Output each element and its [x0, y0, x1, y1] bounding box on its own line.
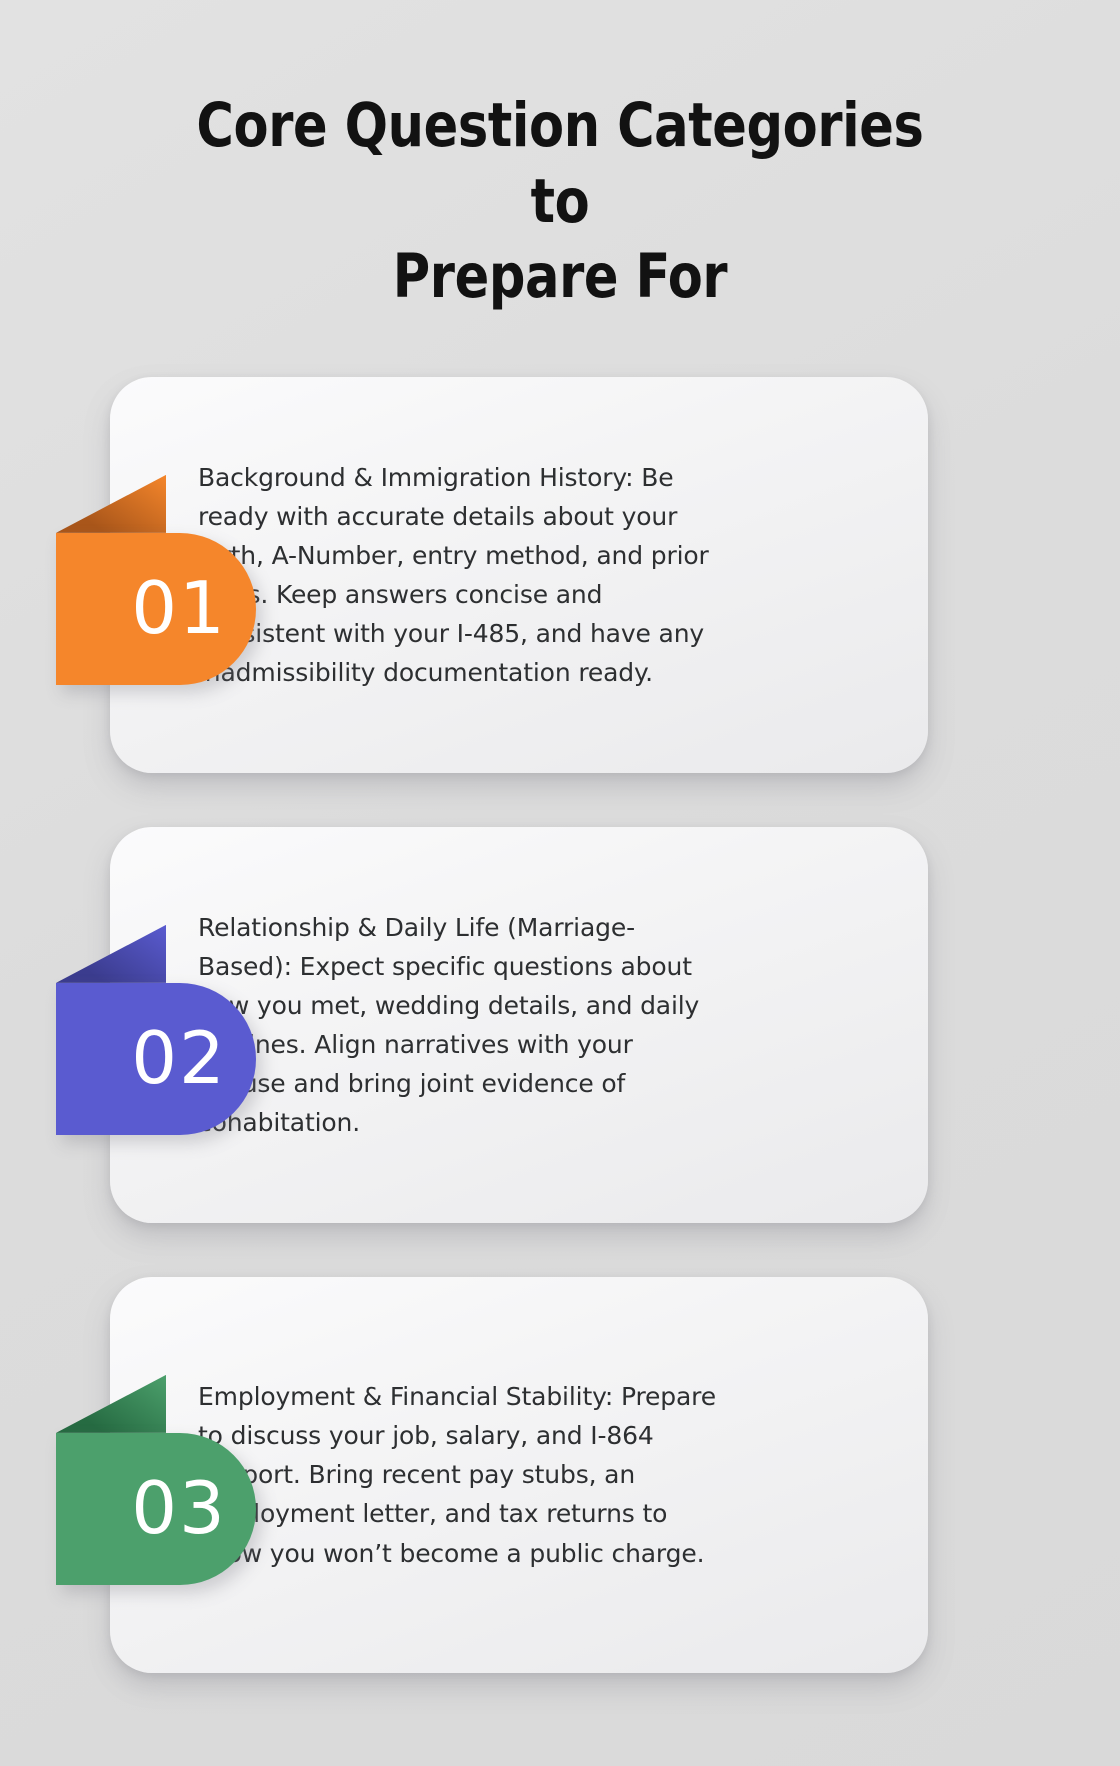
list-item: Relationship & Daily Life (Marriage-Base… — [0, 827, 1120, 1223]
step-badge-body: 02 — [56, 983, 256, 1135]
page-title-container: Core Question Categories toPrepare For — [0, 0, 1120, 315]
page-title: Core Question Categories toPrepare For — [188, 88, 932, 315]
step-badge-body: 03 — [56, 1433, 256, 1585]
page-title-line1: Core Question Categories to — [196, 90, 923, 237]
list-item: Background & Immigration History: Be rea… — [0, 377, 1120, 773]
list-item: Employment & Financial Stability: Prepar… — [0, 1277, 1120, 1673]
step-badge: 01 — [56, 475, 316, 685]
step-badge: 02 — [56, 925, 316, 1135]
infographic-page: Core Question Categories toPrepare For B… — [0, 0, 1120, 1766]
step-number: 03 — [85, 1472, 227, 1546]
ribbon-fold-top-icon — [56, 1375, 166, 1433]
ribbon-fold-top-icon — [56, 925, 166, 983]
step-number: 02 — [85, 1022, 227, 1096]
step-badge: 03 — [56, 1375, 316, 1585]
step-number: 01 — [85, 572, 227, 646]
ribbon-fold-top-icon — [56, 475, 166, 533]
step-badge-body: 01 — [56, 533, 256, 685]
card-list: Background & Immigration History: Be rea… — [0, 377, 1120, 1673]
page-title-line2: Prepare For — [393, 241, 727, 312]
